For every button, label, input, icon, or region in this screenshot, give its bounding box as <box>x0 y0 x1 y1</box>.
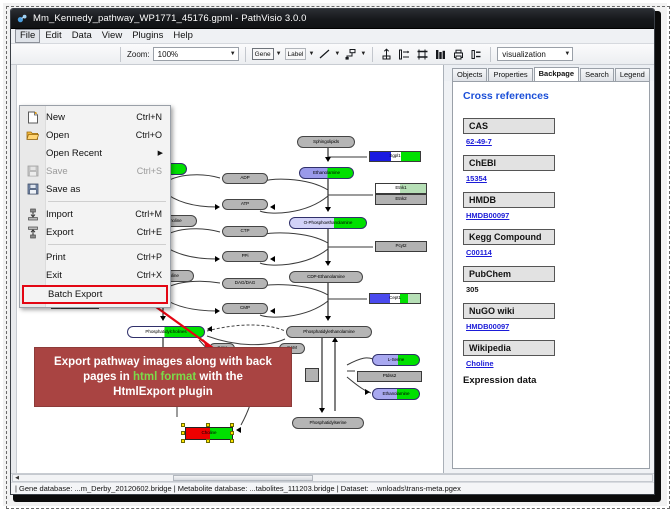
annotation-callout: Export pathway images along with back pa… <box>34 347 292 407</box>
node-ctp[interactable]: CTP <box>222 226 268 237</box>
expression-data-heading: Expression data <box>463 375 639 386</box>
xref-pubchem: PubChem 305 <box>463 264 639 294</box>
chevron-down-icon: ▼ <box>360 51 366 57</box>
cross-references-title: Cross references <box>463 90 639 102</box>
toolbar-separator <box>490 47 491 62</box>
pathvisio-icon <box>17 13 28 24</box>
node-ppi[interactable]: PPi <box>222 251 268 262</box>
xref-value-link[interactable]: 62-49-7 <box>466 137 639 146</box>
node-cdp-ethanolamine[interactable]: CDP-Ethanolamine <box>289 271 363 283</box>
node-o-phosphoethanolamine[interactable]: O-Phosphoethanolamine <box>289 217 367 229</box>
menu-item-accel: Ctrl+S <box>137 166 170 176</box>
xref-value-link[interactable]: Choline <box>466 359 639 368</box>
selection-handle[interactable] <box>230 423 234 427</box>
xref-db-label: NuGO wiki <box>463 303 555 319</box>
gene-cept1[interactable]: Cept1 <box>369 293 421 304</box>
menu-item-label: Print <box>46 252 137 263</box>
chevron-down-icon: ▼ <box>308 51 314 57</box>
node-ethanolamine-bottom[interactable]: Ethanolamine <box>372 388 420 400</box>
menu-item-print[interactable]: Print Ctrl+P <box>20 248 170 266</box>
zoom-label: Zoom: <box>127 50 150 59</box>
gene-pcyt2[interactable]: Pcyt2 <box>375 241 427 252</box>
node-label: Phosphatidylethanolamine <box>303 330 355 335</box>
chevron-down-icon: ▼ <box>276 51 282 57</box>
selection-handle[interactable] <box>230 431 234 435</box>
menu-item-label: Save <box>46 166 137 177</box>
menu-item-save-as[interactable]: Save as <box>20 180 170 198</box>
arrowhead-icon <box>319 408 325 413</box>
menu-item-export[interactable]: Export Ctrl+E <box>20 223 170 241</box>
menu-item-label: Export <box>46 227 137 238</box>
label-tool[interactable]: Label ▼ <box>285 48 315 60</box>
xref-value-link[interactable]: HMDB00097 <box>466 322 639 331</box>
callout-line-2-b: with the <box>196 371 243 383</box>
gene-sgpl1[interactable]: Sgpl1 <box>369 151 421 162</box>
arrowhead-icon <box>215 204 220 210</box>
node-sphingolipids[interactable]: Sphingolipids <box>297 136 355 148</box>
save-icon <box>25 164 40 178</box>
selection-handle[interactable] <box>181 423 185 427</box>
selection-handle[interactable] <box>206 423 210 427</box>
callout-line-2-a: pages in <box>83 371 133 383</box>
application-window: Mm_Kennedy_pathway_WP1771_45176.gpml - P… <box>10 8 655 495</box>
line-tool[interactable]: ▼ <box>317 47 340 62</box>
side-panel: Objects Properties Backpage Search Legen… <box>444 65 654 473</box>
xref-hmdb: HMDB HMDB00097 <box>463 190 639 220</box>
menu-item-import[interactable]: Import Ctrl+M <box>20 205 170 223</box>
menu-item-label: Import <box>46 209 135 220</box>
node-adp[interactable]: ADP <box>222 173 268 184</box>
interaction-icon <box>343 47 358 62</box>
node-cmp[interactable]: CMP <box>222 303 268 314</box>
status-bar: ◀ | Gene database: ...m_Derby_20120602.b… <box>11 473 654 494</box>
arrowhead-icon <box>365 389 370 395</box>
align-icon[interactable] <box>379 47 394 62</box>
horizontal-scrollbar[interactable]: ◀ <box>12 474 653 482</box>
arrowhead-icon <box>270 204 275 210</box>
menu-separator <box>48 244 166 245</box>
node-label: Phosphatidylcholines <box>145 330 186 335</box>
node-atp[interactable]: ATP <box>222 199 268 210</box>
xref-value-text: 305 <box>466 285 639 294</box>
stack-icon[interactable] <box>469 47 484 62</box>
menu-item-accel: Ctrl+P <box>137 252 170 262</box>
xref-db-label: Kegg Compound <box>463 229 555 245</box>
xref-nugo-wiki: NuGO wiki HMDB00097 <box>463 301 639 331</box>
file-menu-dropdown: New Ctrl+N Open Ctrl+O Open Recent <box>19 105 171 308</box>
menu-separator <box>48 201 166 202</box>
visualization-value: visualization <box>502 50 546 59</box>
toolbar-separator <box>120 47 121 62</box>
gene-label: Sgpl1 <box>389 154 400 159</box>
arrowhead-icon <box>160 316 166 321</box>
arrowhead-icon <box>270 308 275 314</box>
backpage-content: Cross references CAS 62-49-7 ChEBI 15354… <box>452 81 650 469</box>
scrollbar-thumb[interactable] <box>173 475 314 481</box>
node-phosphatidylcholines[interactable]: Phosphatidylcholines <box>127 326 205 338</box>
callout-line-3: HtmlExport plugin <box>113 385 213 400</box>
menu-item-label: Batch Export <box>48 289 158 300</box>
menu-item-save: Save Ctrl+S <box>20 162 170 180</box>
node-phosphatidylserine[interactable]: Phosphatidylserine <box>292 417 364 429</box>
xref-chebi: ChEBI 15354 <box>463 153 639 183</box>
selection-handle[interactable] <box>181 439 185 443</box>
node-phosphatidylethanolamine[interactable]: Phosphatidylethanolamine <box>286 326 372 338</box>
node-label: L-Serine <box>388 358 405 363</box>
node-label: ADP <box>240 176 249 181</box>
node-label: O-Phosphoethanolamine <box>304 221 353 226</box>
layout-icon[interactable] <box>397 47 412 62</box>
import-icon <box>25 207 40 221</box>
node-label: Ethanolamine <box>313 171 340 176</box>
tab-properties[interactable]: Properties <box>488 68 532 82</box>
menu-item-batch-export[interactable]: Batch Export <box>22 285 168 304</box>
menu-edit[interactable]: Edit <box>40 29 66 43</box>
arrowhead-icon <box>270 256 275 262</box>
arrowhead-icon <box>325 261 331 266</box>
xref-db-label: Wikipedia <box>463 340 555 356</box>
gene-label: Ptdss2 <box>383 374 396 379</box>
status-text: | Gene database: ...m_Derby_20120602.bri… <box>11 482 654 494</box>
visualization-combo[interactable]: visualization ▼ <box>497 47 573 61</box>
title-bar: Mm_Kennedy_pathway_WP1771_45176.gpml - P… <box>11 9 654 29</box>
tab-search[interactable]: Search <box>580 68 614 82</box>
menu-item-accel: Ctrl+E <box>137 227 170 237</box>
chevron-down-icon: ▼ <box>334 51 340 57</box>
node-label: DAG/DAG <box>235 281 256 286</box>
gene-ptdss2[interactable]: Ptdss2 <box>357 371 422 382</box>
xref-cas: CAS 62-49-7 <box>463 116 639 146</box>
arrowhead-icon <box>207 326 212 332</box>
selection-handle[interactable] <box>181 431 185 435</box>
chevron-down-icon: ▼ <box>230 51 236 57</box>
zoom-combo[interactable]: 100% ▼ <box>153 47 239 61</box>
menu-help[interactable]: Help <box>168 29 198 43</box>
menu-item-exit[interactable]: Exit Ctrl+X <box>20 266 170 284</box>
gene-etnk1[interactable]: Etnk1 <box>375 183 427 194</box>
scroll-left-icon[interactable]: ◀ <box>13 475 21 481</box>
window-title: Mm_Kennedy_pathway_WP1771_45176.gpml - P… <box>33 13 307 24</box>
geneproduct-tool[interactable]: Gene ▼ <box>252 48 282 60</box>
node-ethanolamine-top[interactable]: Ethanolamine <box>299 167 354 179</box>
xref-db-label: PubChem <box>463 266 555 282</box>
menu-item-label: Exit <box>46 270 137 281</box>
menu-plugins[interactable]: Plugins <box>127 29 168 43</box>
menu-bar: File Edit Data View Plugins Help <box>11 29 654 44</box>
menu-file[interactable]: File <box>15 29 40 43</box>
gene-label: Pcyt2 <box>396 244 407 249</box>
gene-label: Etnk2 <box>395 197 406 202</box>
chevron-down-icon: ▼ <box>564 51 570 57</box>
node-label: CDP-Ethanolamine <box>307 275 345 280</box>
node-label: CMP <box>240 306 250 311</box>
tab-backpage[interactable]: Backpage <box>534 67 579 82</box>
menu-item-accel: Ctrl+N <box>136 112 170 122</box>
xref-value-link[interactable]: 15354 <box>466 174 639 183</box>
zoom-value: 100% <box>158 50 178 59</box>
arrowhead-icon <box>215 308 220 314</box>
decorative-outer-frame: Mm_Kennedy_pathway_WP1771_45176.gpml - P… <box>0 0 670 509</box>
tab-legend[interactable]: Legend <box>615 68 650 82</box>
xref-value-link[interactable]: HMDB00097 <box>466 211 639 220</box>
node-label: CTP <box>241 229 250 234</box>
line-icon <box>317 47 332 62</box>
menu-item-new[interactable]: New Ctrl+N <box>20 108 170 126</box>
work-area: Choline Phosphocholine CDP-choline Phosp… <box>11 65 654 473</box>
selection-handle[interactable] <box>230 439 234 443</box>
menu-item-open-recent[interactable]: Open Recent ▶ <box>20 144 170 162</box>
arrowhead-icon <box>325 157 331 162</box>
toolbar-separator <box>245 47 246 62</box>
menu-item-label: New <box>46 112 136 123</box>
side-panel-tabstrip: Objects Properties Backpage Search Legen… <box>444 65 654 81</box>
export-icon <box>25 225 40 239</box>
menu-item-accel: Ctrl+X <box>137 270 170 280</box>
menu-item-label: Save as <box>46 184 162 195</box>
menu-item-label: Open Recent <box>46 148 158 159</box>
xref-wikipedia: Wikipedia Choline <box>463 338 639 368</box>
save-as-icon <box>25 182 40 196</box>
node-label: PPi <box>242 254 249 259</box>
menu-view[interactable]: View <box>97 29 127 43</box>
menu-data[interactable]: Data <box>67 29 97 43</box>
arrowhead-icon <box>236 427 241 433</box>
xref-kegg-compound: Kegg Compound C00114 <box>463 227 639 257</box>
gene-label: Cept1 <box>389 296 401 301</box>
node-label: Phosphatidylserine <box>309 421 346 426</box>
node-label: Choline <box>202 431 217 436</box>
columns-icon[interactable] <box>433 47 448 62</box>
callout-line-2: pages in html format with the <box>83 370 243 385</box>
interaction-tool[interactable]: ▼ <box>343 47 366 62</box>
node-label: Ethanolamine <box>383 392 410 397</box>
interaction-anchor[interactable] <box>305 368 319 382</box>
xref-db-label: ChEBI <box>463 155 555 171</box>
toolbar: Zoom: 100% ▼ Gene ▼ Label ▼ ▼ <box>11 44 654 65</box>
arrowhead-icon <box>325 207 331 212</box>
node-dag[interactable]: DAG/DAG <box>222 278 268 289</box>
tab-objects[interactable]: Objects <box>452 68 487 82</box>
chevron-right-icon: ▶ <box>158 149 170 157</box>
toolbar-separator <box>372 47 373 62</box>
menu-item-open[interactable]: Open Ctrl+O <box>20 126 170 144</box>
arrowhead-icon <box>215 256 220 262</box>
menu-item-label: Open <box>46 130 136 141</box>
print-icon[interactable] <box>451 47 466 62</box>
selection-handle[interactable] <box>206 439 210 443</box>
new-file-icon <box>25 110 40 124</box>
callout-highlight: html format <box>133 371 196 383</box>
folder-open-icon <box>25 128 40 142</box>
xref-db-label: CAS <box>463 118 555 134</box>
gene-etnk2[interactable]: Etnk2 <box>375 194 427 205</box>
xref-value-link[interactable]: C00114 <box>466 248 639 257</box>
xref-db-label: HMDB <box>463 192 555 208</box>
gene-label: Etnk1 <box>395 186 406 191</box>
distribute-icon[interactable] <box>415 47 430 62</box>
geneproduct-icon: Gene <box>252 48 274 60</box>
callout-line-1: Export pathway images along with back <box>54 355 272 370</box>
arrowhead-icon <box>325 316 331 321</box>
node-label: Sphingolipids <box>313 140 339 145</box>
label-icon: Label <box>285 48 307 60</box>
node-l-serine[interactable]: L-Serine <box>372 354 420 366</box>
node-label: ATP <box>241 202 249 207</box>
menu-item-accel: Ctrl+M <box>135 209 170 219</box>
menu-item-accel: Ctrl+O <box>136 130 170 140</box>
